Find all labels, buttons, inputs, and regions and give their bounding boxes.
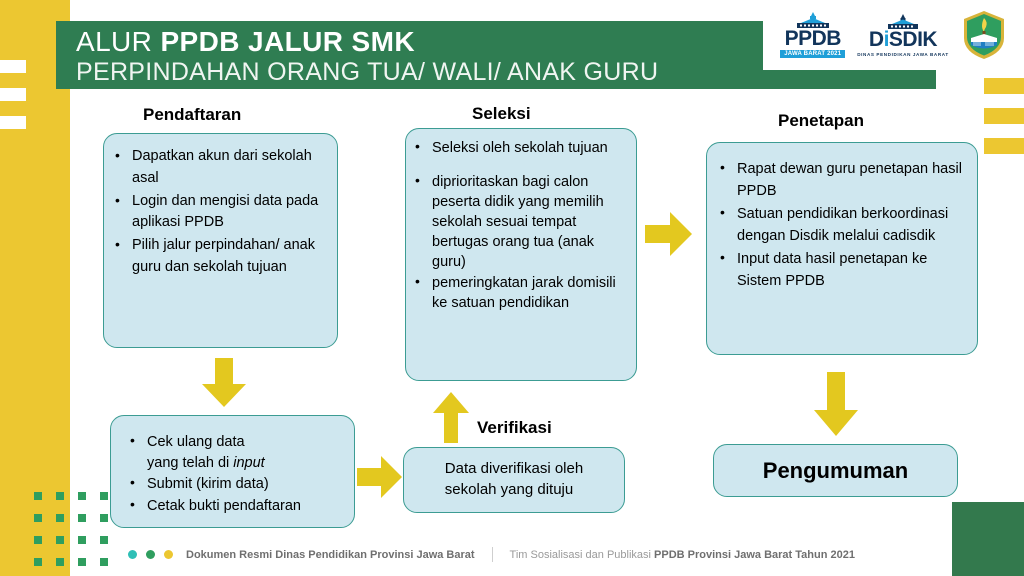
arrow-up-verifikasi-to-seleksi <box>432 392 470 444</box>
footer-dot-1 <box>128 550 137 559</box>
title-light: ALUR <box>76 26 160 57</box>
cek-line-1: Cek ulang data <box>147 434 245 450</box>
pengumuman-label: Pengumuman <box>763 458 908 484</box>
list-item: Dapatkan akun dari sekolah asal <box>110 146 327 190</box>
list-item: Input data hasil penetapan ke Sistem PPD… <box>715 248 969 292</box>
footer-dot-2 <box>146 550 155 559</box>
stage-label-pendaftaran: Pendaftaran <box>143 105 241 125</box>
stage-label-seleksi: Seleksi <box>472 104 531 124</box>
cek-line-2-italic: input <box>233 455 264 471</box>
footer-sub-bold: PPDB Provinsi Jawa Barat Tahun 2021 <box>654 549 855 561</box>
disdik-letter-d: D <box>869 28 884 51</box>
stage-label-verifikasi: Verifikasi <box>477 418 552 438</box>
list-item: Cek ulang datayang telah di input <box>125 432 346 473</box>
title-bold: PPDB JALUR SMK <box>160 26 415 57</box>
process-box-cek-ulang: Cek ulang datayang telah di input Submit… <box>110 415 355 528</box>
arrow-right-seleksi-to-penetapan <box>645 210 693 258</box>
footer-main-text: Dokumen Resmi Dinas Pendidikan Provinsi … <box>186 549 475 561</box>
footer: Dokumen Resmi Dinas Pendidikan Provinsi … <box>128 547 855 562</box>
footer-sub-text: Tim Sosialisasi dan Publikasi PPDB Provi… <box>510 549 855 561</box>
footer-divider <box>492 547 493 562</box>
process-box-pendaftaran: Dapatkan akun dari sekolah asal Login da… <box>103 133 338 348</box>
slide-canvas: ALUR PPDB JALUR SMK PERPINDAHAN ORANG TU… <box>0 0 1024 576</box>
list-item: pemeringkatan jarak domisili ke satuan p… <box>410 273 628 313</box>
list-item: Submit (kirim data) <box>125 474 346 495</box>
left-notch-2 <box>0 88 26 101</box>
seleksi-list: Seleksi oleh sekolah tujuan diprioritask… <box>410 138 628 313</box>
left-notch-3 <box>0 116 26 129</box>
ppdb-logo: PPDB JAWA BARAT 2021 <box>780 12 845 58</box>
jawa-barat-emblem-icon <box>961 10 1007 60</box>
verifikasi-line-2: sekolah yang dituju <box>445 481 573 498</box>
process-box-verifikasi: Data diverifikasi oleh sekolah yang ditu… <box>403 447 625 513</box>
left-notch-1 <box>0 60 26 73</box>
list-item: Satuan pendidikan berkoordinasi dengan D… <box>715 203 969 247</box>
list-item: diprioritaskan bagi calon peserta didik … <box>410 172 628 272</box>
disdik-wordmark: DiSDIK <box>869 29 937 50</box>
stage-label-penetapan: Penetapan <box>778 111 864 131</box>
disdik-logo: DiSDIK DINAS PENDIDIKAN JAWA BARAT <box>857 14 949 57</box>
ppdb-ribbon: JAWA BARAT 2021 <box>780 50 845 58</box>
right-yellow-tab-3 <box>984 138 1024 154</box>
decorative-dot-grid <box>34 492 122 576</box>
bottom-right-green-block <box>952 502 1024 576</box>
process-box-penetapan: Rapat dewan guru penetapan hasil PPDB Sa… <box>706 142 978 355</box>
page-subtitle: PERPINDAHAN ORANG TUA/ WALI/ ANAK GURU <box>76 58 658 87</box>
ppdb-wordmark: PPDB <box>785 28 841 49</box>
process-box-pengumuman: Pengumuman <box>713 444 958 497</box>
right-yellow-tab-1 <box>984 78 1024 94</box>
list-item: Cetak bukti pendaftaran <box>125 496 346 517</box>
arrow-down-pendaftaran-to-cek <box>200 358 248 408</box>
logo-card: PPDB JAWA BARAT 2021 DiSDIK DINAS PENDID… <box>763 0 1024 70</box>
verifikasi-line-1: Data diverifikasi oleh <box>445 460 583 477</box>
footer-dot-3 <box>164 550 173 559</box>
list-item: Pilih jalur perpindahan/ anak guru dan s… <box>110 235 327 279</box>
process-box-seleksi: Seleksi oleh sekolah tujuan diprioritask… <box>405 128 637 381</box>
penetapan-list: Rapat dewan guru penetapan hasil PPDB Sa… <box>715 158 969 292</box>
disdik-letters-sdik: SDIK <box>889 28 937 51</box>
list-item: Rapat dewan guru penetapan hasil PPDB <box>715 158 969 202</box>
arrow-down-penetapan-to-pengumuman <box>812 372 860 437</box>
cek-ulang-list: Cek ulang datayang telah di input Submit… <box>125 432 346 516</box>
verifikasi-text: Data diverifikasi oleh sekolah yang ditu… <box>445 459 583 500</box>
right-yellow-tab-2 <box>984 108 1024 124</box>
gedung-sate-icon-disdik <box>883 14 923 29</box>
page-title: ALUR PPDB JALUR SMK <box>76 26 415 58</box>
list-item: Seleksi oleh sekolah tujuan <box>410 138 628 158</box>
cek-line-2: yang telah di <box>147 455 233 471</box>
disdik-tagline: DINAS PENDIDIKAN JAWA BARAT <box>857 52 949 57</box>
gedung-sate-icon <box>791 12 835 28</box>
list-item: Login dan mengisi data pada aplikasi PPD… <box>110 191 327 235</box>
pendaftaran-list: Dapatkan akun dari sekolah asal Login da… <box>110 146 327 279</box>
footer-sub-prefix: Tim Sosialisasi dan Publikasi <box>510 549 654 561</box>
arrow-right-cek-to-verifikasi <box>357 454 403 500</box>
